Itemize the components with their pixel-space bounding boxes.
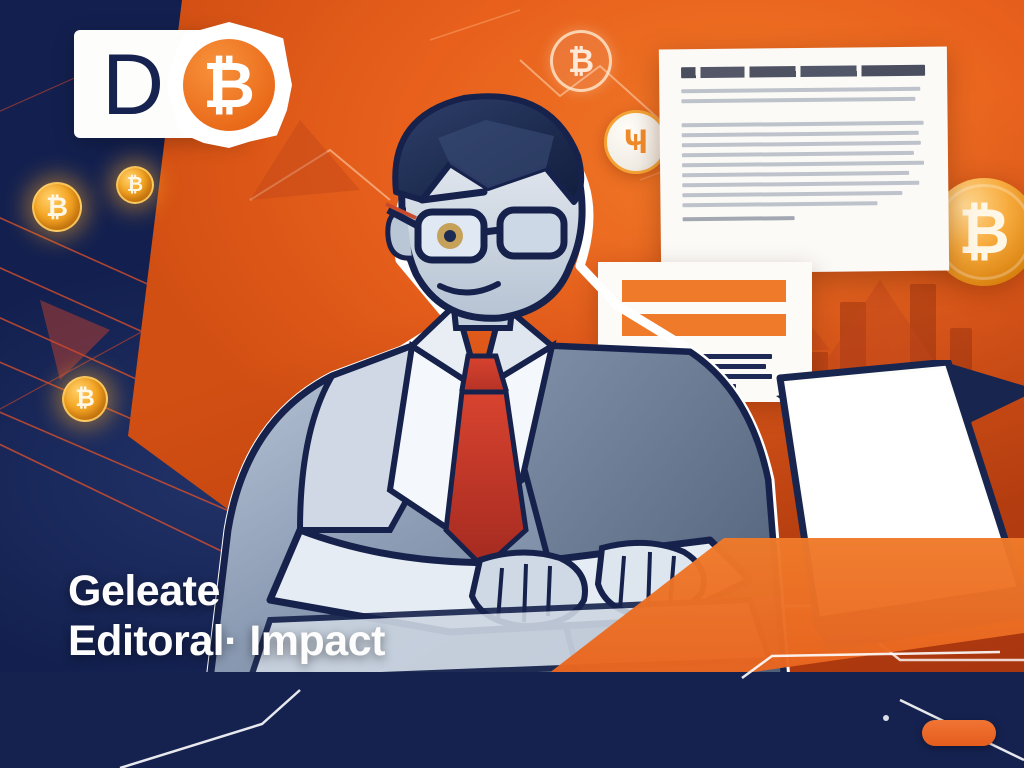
- coin-gold-left-lower: ₿: [62, 376, 108, 422]
- headline-line-1: Geleate: [68, 567, 220, 615]
- brand-logo-badge[interactable]: ₿: [166, 22, 292, 148]
- bitcoin-icon: ₿: [183, 39, 275, 131]
- headline-line-2: Editoral· Impact: [68, 616, 498, 666]
- cta-pill-button[interactable]: [922, 720, 996, 746]
- footer-band: [0, 672, 1024, 768]
- coin-gold-left-upper: ₿: [32, 182, 82, 232]
- coin-edge: [936, 184, 1024, 279]
- page-title: Geleate Editoral· Impact: [68, 566, 498, 666]
- coin-gold-left-mid: ₿: [116, 166, 154, 204]
- brand-logo-letter: D: [102, 42, 164, 128]
- poster-canvas: ₿₿₿₿Ҹ₿: [0, 0, 1024, 768]
